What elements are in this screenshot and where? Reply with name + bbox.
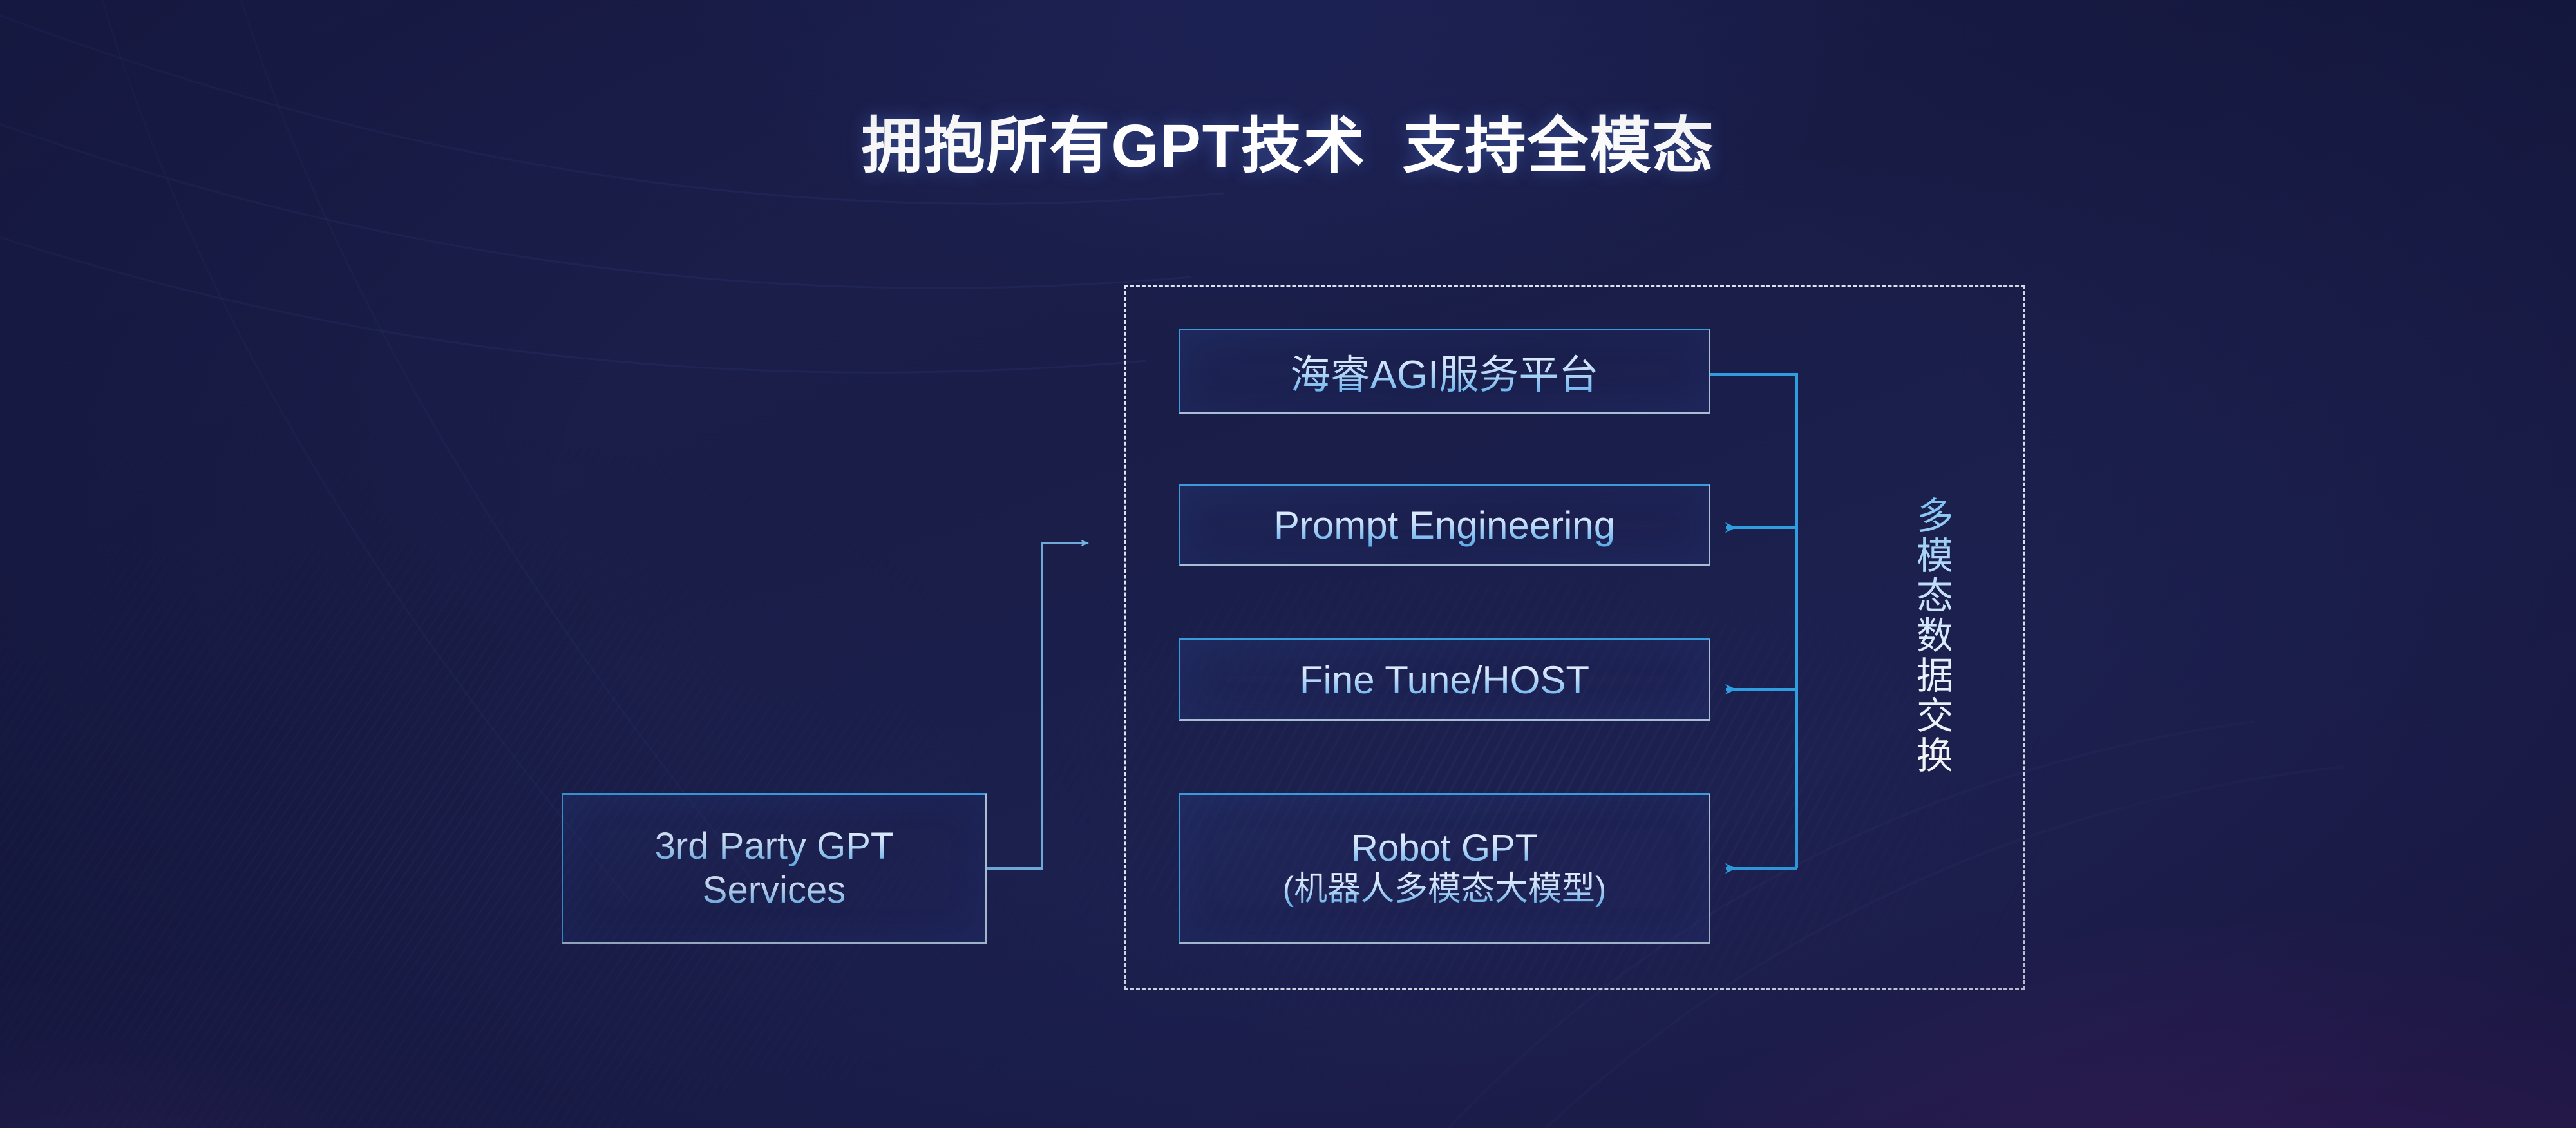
side-caption-multimodal-data-exchange: 多模态数据交换 bbox=[1906, 496, 1951, 776]
node-robot-gpt-sublabel: (机器人多模态大模型) bbox=[1283, 870, 1607, 909]
node-robot-gpt[interactable]: Robot GPT (机器人多模态大模型) bbox=[1179, 793, 1710, 944]
slide-canvas: 拥抱所有GPT技术 支持全模态 bbox=[0, 0, 2576, 1128]
node-prompt-engineering[interactable]: Prompt Engineering bbox=[1179, 484, 1710, 566]
node-robot-gpt-label: Robot GPT bbox=[1351, 828, 1538, 870]
node-fine-tune-host[interactable]: Fine Tune/HOST bbox=[1179, 638, 1710, 721]
slide-title: 拥抱所有GPT技术 支持全模态 bbox=[0, 113, 2576, 180]
node-prompt-engineering-label: Prompt Engineering bbox=[1274, 503, 1615, 548]
node-agi-platform-label: 海睿AGI服务平台 bbox=[1291, 342, 1599, 400]
node-agi-platform[interactable]: 海睿AGI服务平台 bbox=[1179, 329, 1710, 414]
node-third-party-gpt-services-sublabel: Services bbox=[703, 868, 846, 912]
node-fine-tune-host-label: Fine Tune/HOST bbox=[1300, 658, 1589, 702]
node-third-party-gpt-services-label: 3rd Party GPT bbox=[655, 825, 894, 868]
node-third-party-gpt-services[interactable]: 3rd Party GPT Services bbox=[562, 793, 987, 944]
